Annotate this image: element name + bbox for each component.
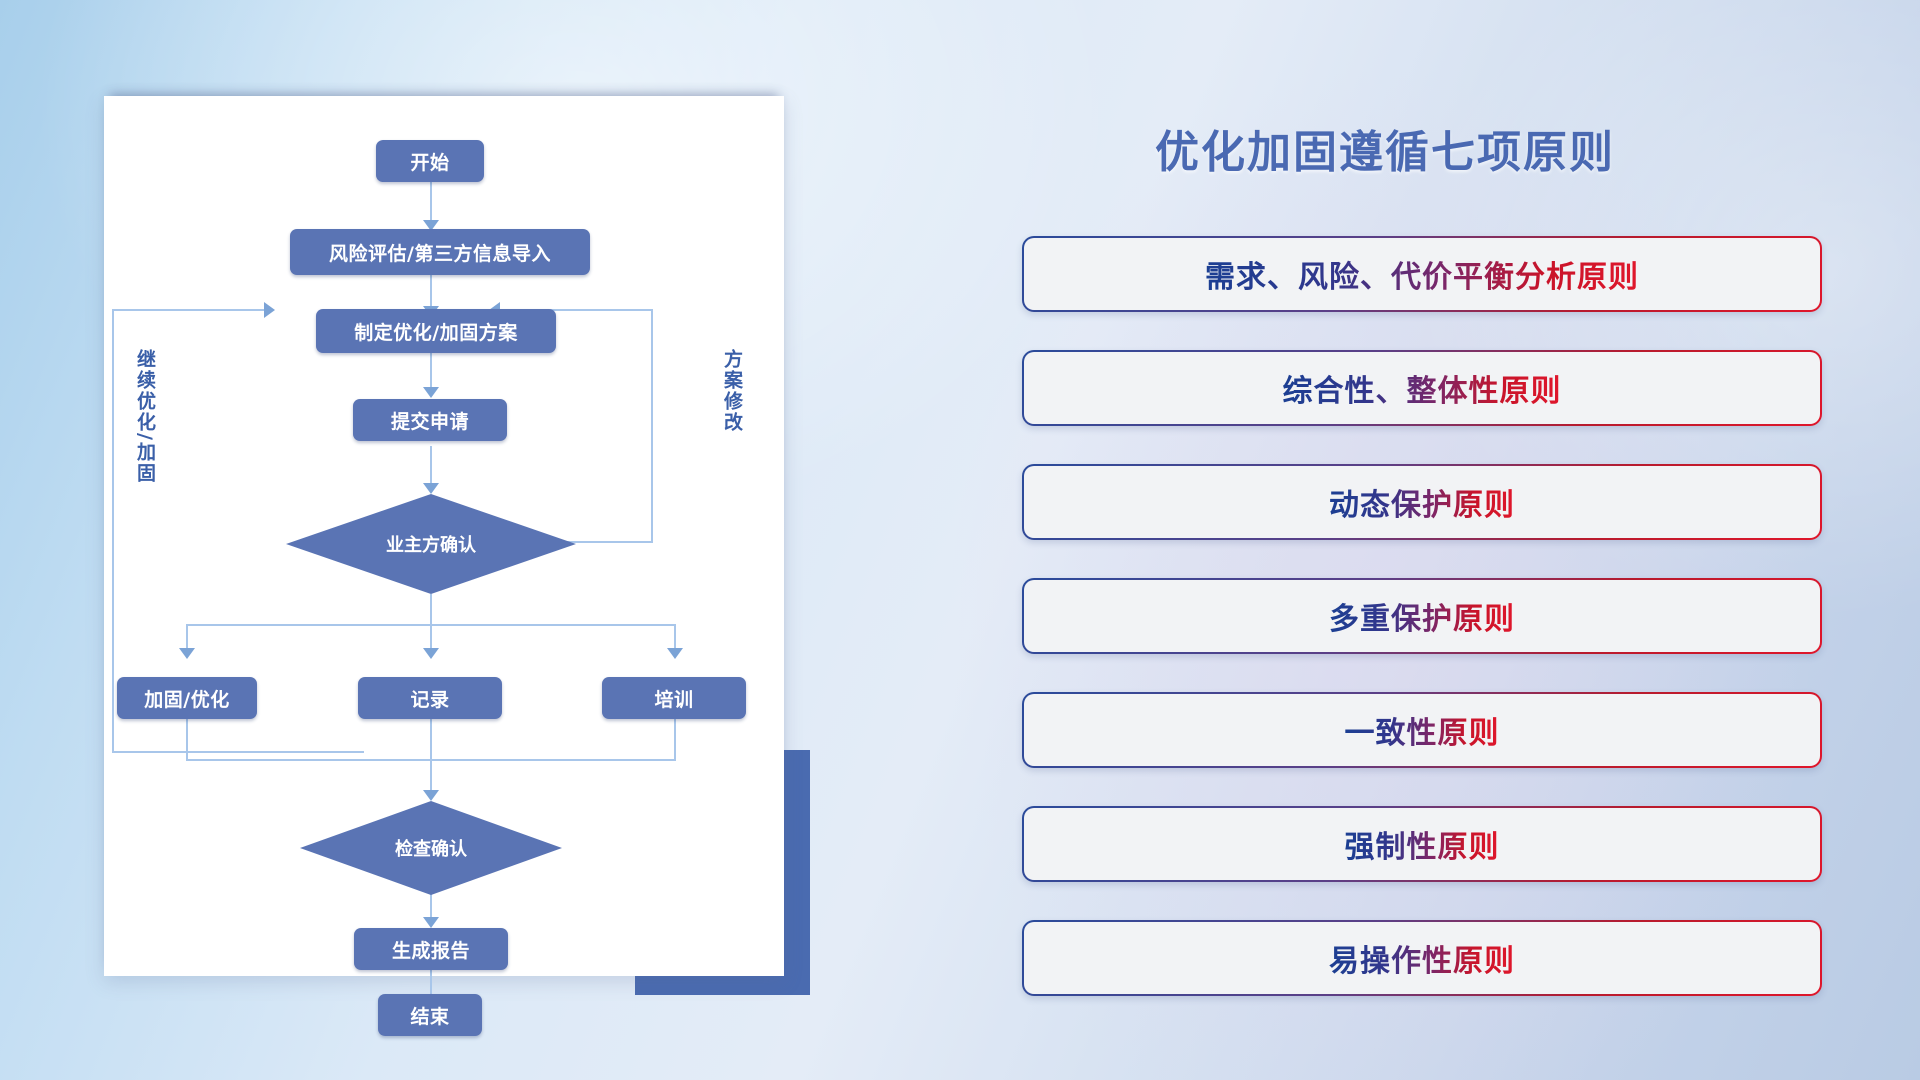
principle-card-6-label: 强制性原则 — [1345, 822, 1500, 866]
principle-card-3[interactable]: 动态保护原则 — [1022, 464, 1822, 540]
flow-node-submit-label: 提交申请 — [391, 407, 469, 434]
principle-card-4[interactable]: 多重保护原则 — [1022, 578, 1822, 654]
principle-card-2[interactable]: 综合性、整体性原则 — [1022, 350, 1822, 426]
principle-card-3-label: 动态保护原则 — [1329, 480, 1515, 524]
left-loop-label: 继续优化/加固 — [134, 349, 154, 484]
flow-node-record[interactable]: 记录 — [358, 677, 502, 719]
principle-card-5[interactable]: 一致性原则 — [1022, 692, 1822, 768]
flow-node-plan-label: 制定优化/加固方案 — [354, 318, 517, 345]
flow-node-start-label: 开始 — [410, 148, 449, 175]
principle-card-7[interactable]: 易操作性原则 — [1022, 920, 1822, 996]
flow-node-start[interactable]: 开始 — [376, 140, 484, 182]
principles-list: 需求、风险、代价平衡分析原则 综合性、整体性原则 动态保护原则 多重保护原则 一… — [1022, 236, 1822, 1034]
arrow-to-train-icon — [667, 648, 683, 659]
left-loop-arrow-icon — [264, 302, 275, 318]
edge-owner-down — [430, 594, 432, 626]
principle-card-6[interactable]: 强制性原则 — [1022, 806, 1822, 882]
merge-rise-left — [186, 719, 188, 761]
flow-node-owner-confirm[interactable]: 业主方确认 — [286, 494, 576, 594]
right-loop-vertical — [651, 309, 653, 542]
flow-node-report[interactable]: 生成报告 — [354, 928, 508, 970]
left-loop-top — [112, 309, 264, 311]
principle-card-7-label: 易操作性原则 — [1329, 936, 1515, 980]
flow-node-training[interactable]: 培训 — [602, 677, 746, 719]
flow-node-end[interactable]: 结束 — [378, 994, 482, 1036]
flow-node-training-label: 培训 — [654, 685, 693, 712]
principle-card-5-label: 一致性原则 — [1345, 708, 1500, 752]
flowchart-card: 继续优化/加固 方案修改 开始 风险评估/第三方信息导入 制定优化/加固方案 提… — [104, 96, 784, 976]
arrow-submit-to-owner-icon — [423, 483, 439, 494]
principle-card-2-label: 综合性、整体性原则 — [1283, 366, 1562, 410]
flow-node-owner-confirm-label: 业主方确认 — [386, 531, 476, 557]
arrow-check-to-report-icon — [423, 917, 439, 928]
flow-node-risk-assessment-label: 风险评估/第三方信息导入 — [329, 239, 551, 266]
flow-node-check-confirm-label: 检查确认 — [395, 835, 467, 861]
flow-node-reinforce[interactable]: 加固/优化 — [117, 677, 257, 719]
right-loop-label: 方案修改 — [721, 349, 741, 433]
flow-node-submit[interactable]: 提交申请 — [353, 399, 507, 441]
page-title: 优化加固遵循七项原则 — [1155, 116, 1615, 180]
left-loop-bottom — [112, 751, 364, 753]
flow-node-end-label: 结束 — [410, 1002, 449, 1029]
flow-node-reinforce-label: 加固/优化 — [144, 685, 229, 712]
arrow-to-record-icon — [423, 648, 439, 659]
principle-card-4-label: 多重保护原则 — [1329, 594, 1515, 638]
left-loop-vertical — [112, 309, 114, 751]
flow-node-record-label: 记录 — [410, 685, 449, 712]
arrow-to-reinforce-icon — [179, 648, 195, 659]
merge-rise-mid — [430, 719, 432, 761]
arrow-merge-to-check-icon — [423, 790, 439, 801]
flow-node-plan[interactable]: 制定优化/加固方案 — [316, 309, 556, 353]
principle-card-1-label: 需求、风险、代价平衡分析原则 — [1205, 252, 1639, 296]
arrow-plan-to-submit-icon — [423, 387, 439, 398]
flow-node-risk-assessment[interactable]: 风险评估/第三方信息导入 — [290, 229, 590, 275]
merge-rise-right — [674, 719, 676, 761]
principle-card-1[interactable]: 需求、风险、代价平衡分析原则 — [1022, 236, 1822, 312]
flow-node-check-confirm[interactable]: 检查确认 — [300, 801, 562, 895]
flow-node-report-label: 生成报告 — [392, 936, 470, 963]
